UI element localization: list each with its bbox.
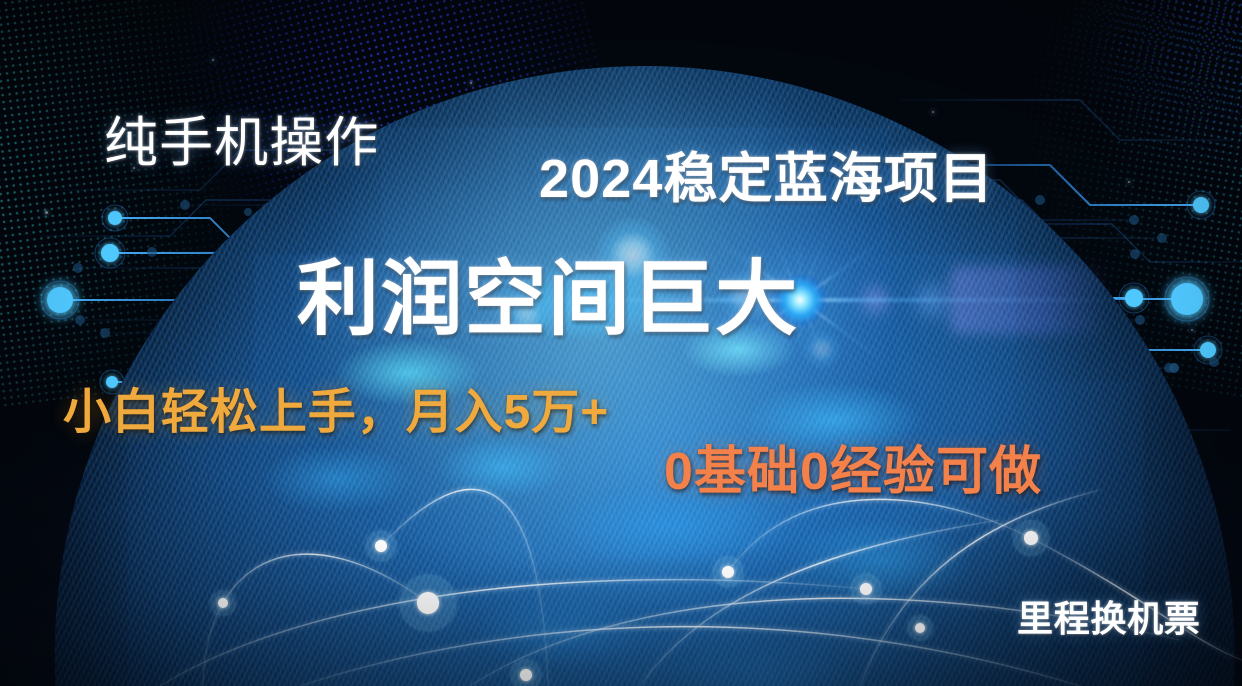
arc-node xyxy=(218,598,228,608)
arc-node xyxy=(375,540,387,552)
headline-pure-phone: 纯手机操作 xyxy=(104,98,379,177)
arc-node xyxy=(520,669,532,681)
headline-main-title: 2024稳定蓝海项目 xyxy=(539,134,994,213)
promo-poster: 纯手机操作 2024稳定蓝海项目 利润空间巨大 小白轻松上手，月入5万+ 0基础… xyxy=(0,0,1242,686)
arc-node xyxy=(915,623,925,633)
arc-node xyxy=(860,583,872,595)
watermark-brand: 里程换机票 xyxy=(1017,590,1201,642)
headline-profit: 利润空间巨大 xyxy=(297,232,799,351)
arc-node xyxy=(722,566,734,578)
arc-node xyxy=(417,592,439,614)
lens-flare-ghost-band xyxy=(950,266,1110,334)
headline-easy-income: 小白轻松上手，月入5万+ xyxy=(63,372,609,442)
headline-zero-base: 0基础0经验可做 xyxy=(664,429,1042,504)
arc-node xyxy=(1024,531,1038,545)
